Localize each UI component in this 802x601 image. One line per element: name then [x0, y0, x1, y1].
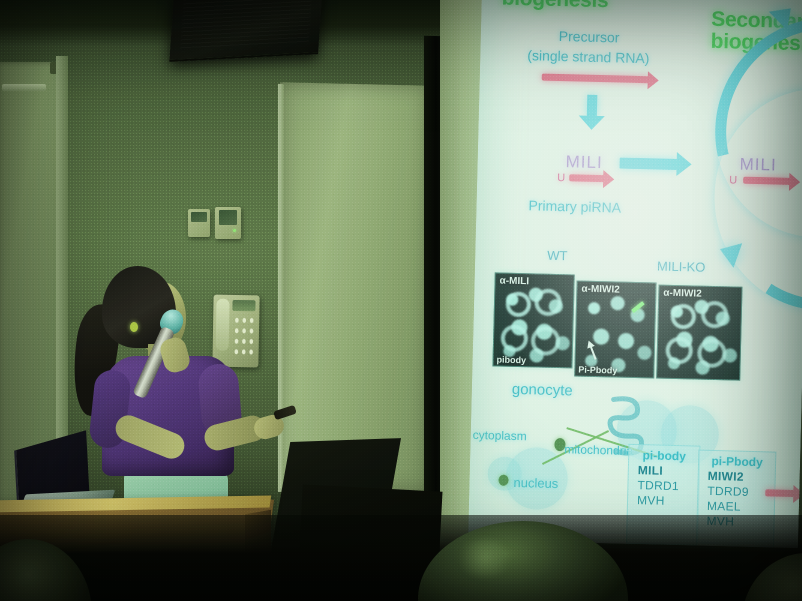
- slide-content: biogenesis Secondary biogenesis Precurso…: [468, 0, 802, 548]
- ceiling-speaker: [169, 0, 323, 62]
- mili-label-right: MILI: [739, 155, 777, 176]
- u-label-left: U: [557, 172, 565, 184]
- audience-head-highlight: [455, 539, 515, 577]
- wall-control-panel-left[interactable]: [188, 209, 210, 237]
- nucleus-label: nucleus: [513, 475, 558, 491]
- mili-label-left: MILI: [565, 152, 603, 173]
- projection-screen: biogenesis Secondary biogenesis Precurso…: [468, 0, 802, 548]
- speaker-grill: [180, 0, 312, 51]
- micrograph-antibody-label: α-MIWI2: [581, 284, 620, 296]
- whiteboard-center: [280, 82, 428, 492]
- primary-pirna-label: Primary piRNA: [528, 197, 621, 215]
- pink-arrow-precursor: [542, 74, 650, 84]
- micrograph-sub-label: pibody: [496, 354, 526, 365]
- micrograph-panel-1: α-MILI pibody: [492, 272, 574, 368]
- group-label-mili-ko: MILI-KO: [657, 259, 706, 275]
- precursor-label-line2: (single strand RNA): [527, 47, 650, 66]
- micrograph-antibody-label: α-MILI: [499, 276, 529, 288]
- pink-arrow-lower-right: [765, 489, 795, 497]
- photo-scene: biogenesis Secondary biogenesis Precurso…: [0, 0, 802, 601]
- micrograph-panel-3: α-MIWI2: [656, 285, 742, 381]
- cyan-arrow-down-1: [587, 95, 598, 117]
- micrograph-cell-outlines: [493, 273, 573, 367]
- table-header: pi-Pbody: [699, 451, 775, 470]
- group-label-wt: WT: [547, 248, 568, 264]
- table-row: TDRD9: [698, 483, 774, 500]
- precursor-label-line1: Precursor: [559, 28, 620, 46]
- micrograph-sub-label: Pi-Pbody: [578, 365, 617, 376]
- table-row: MILI: [629, 462, 699, 479]
- control-panel-screen: [219, 210, 237, 225]
- foreground-shadow-band: [0, 515, 802, 601]
- pink-arrow-mili-right: [743, 177, 791, 185]
- slide-header-primary: biogenesis: [501, 0, 608, 13]
- u-label-right: U: [729, 174, 737, 186]
- control-panel-screen: [191, 212, 207, 222]
- table-row: TDRD1: [628, 477, 698, 494]
- cyan-arrow-right: [619, 158, 677, 170]
- pink-arrow-mili-left: [569, 174, 605, 182]
- wall-control-panel-right[interactable]: [215, 207, 241, 239]
- micrograph-texture: [575, 282, 655, 378]
- whiteboard-left-rail: [2, 84, 46, 91]
- micrograph-panel-2: α-MIWI2 Pi-Pbody: [574, 280, 656, 378]
- cytoplasm-label: cytoplasm: [473, 428, 527, 443]
- table-header: pi-body: [629, 445, 699, 464]
- status-led-icon: [233, 229, 236, 232]
- earring: [130, 322, 138, 332]
- table-row: MVH: [628, 492, 698, 509]
- table-row: MIWI2: [699, 468, 775, 485]
- gonocyte-label: gonocyte: [512, 381, 573, 400]
- micrograph-antibody-label: α-MIWI2: [663, 288, 702, 300]
- mitochondria-label: mitochondria: [564, 442, 633, 458]
- table-row: MAEL: [698, 498, 774, 515]
- micrograph-cell-outlines: [657, 286, 741, 380]
